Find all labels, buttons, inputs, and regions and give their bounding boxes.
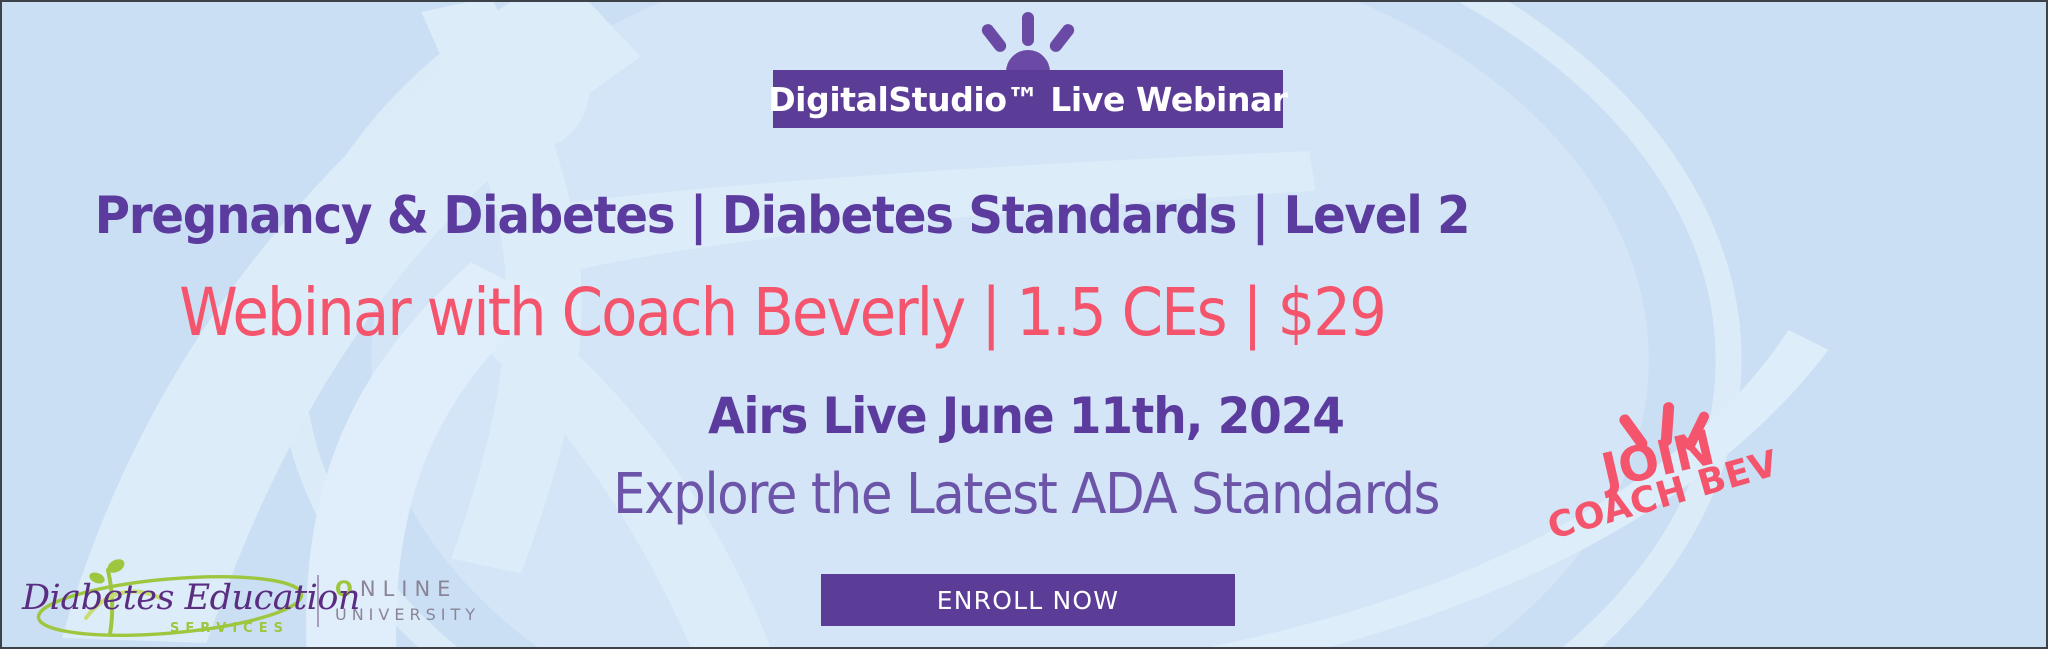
enroll-now-label: ENROLL NOW (937, 588, 1119, 613)
webinar-promo-banner: DigitalStudio™ Live Webinar Pregnancy & … (0, 0, 2048, 649)
live-webinar-badge: DigitalStudio™ Live Webinar (773, 70, 1283, 128)
logo-online-rest: NLINE (360, 577, 458, 601)
diabetes-education-services-logo: Diabetes Education SERVICES (20, 558, 309, 644)
brand-logo-lockup[interactable]: Diabetes Education SERVICES ONLINE UNIVE… (20, 558, 480, 644)
headline-title: Pregnancy & Diabetes | Diabetes Standard… (57, 186, 1508, 246)
headline-price-line: Webinar with Coach Beverly | 1.5 CEs | $… (80, 274, 1484, 351)
join-coach-bev-sticker: JOIN COACH BEV (1550, 402, 1820, 572)
logo-wordmark: Diabetes Education (22, 578, 360, 618)
badge-label: DigitalStudio™ Live Webinar (768, 83, 1288, 116)
enroll-now-button[interactable]: ENROLL NOW (821, 574, 1235, 626)
logo-tagline: SERVICES (170, 621, 289, 636)
sunburst-icon (968, 10, 1088, 72)
